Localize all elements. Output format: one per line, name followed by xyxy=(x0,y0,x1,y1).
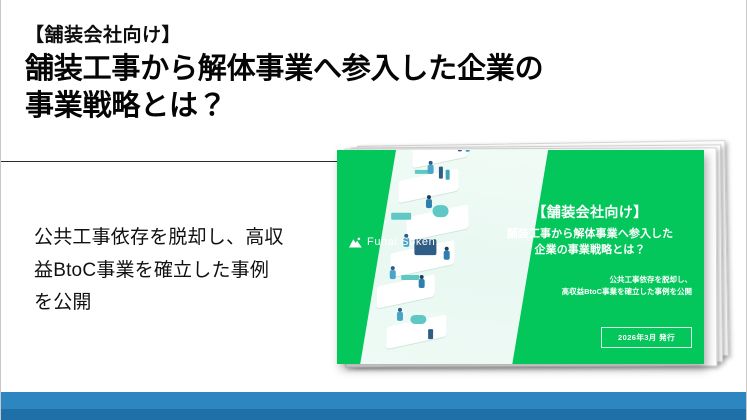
bottom-bar-upper xyxy=(1,392,747,409)
cover-sub-line-1: 公共工事依存を脱却し、 xyxy=(486,274,692,286)
headline-line-2: 事業戦略とは？ xyxy=(25,88,725,125)
document-preview[interactable]: Funai Soken 【舗装会社向け】 舗装工事から解体事業へ参入した 企業の… xyxy=(337,150,732,365)
cover-eyebrow: 【舗装会社向け】 xyxy=(486,202,694,222)
body-copy-line-2: 益BtoC事業を確立した事例 xyxy=(34,255,334,288)
slide-canvas: 【舗装会社向け】 舗装工事から解体事業へ参入した企業の 事業戦略とは？ 公共工事… xyxy=(1,0,747,392)
cover-subtitle: 公共工事依存を脱却し、 高収益BtoC事業を確立した事例を公開 xyxy=(486,274,694,297)
body-copy-line-1: 公共工事依存を脱却し、高収 xyxy=(34,222,334,255)
page-root: 【舗装会社向け】 舗装工事から解体事業へ参入した企業の 事業戦略とは？ 公共工事… xyxy=(0,0,747,420)
headline-line-1: 舗装工事から解体事業へ参入した企業の xyxy=(25,51,725,88)
headline-divider xyxy=(1,161,338,162)
body-copy: 公共工事依存を脱却し、高収 益BtoC事業を確立した事例 を公開 xyxy=(34,222,334,320)
bottom-bar-lower xyxy=(1,409,747,420)
cover-sub-line-2: 高収益BtoC事業を確立した事例を公開 xyxy=(486,286,692,298)
headline-block: 【舗装会社向け】 舗装工事から解体事業へ参入した企業の 事業戦略とは？ xyxy=(25,26,725,125)
page-title: 舗装工事から解体事業へ参入した企業の 事業戦略とは？ xyxy=(25,51,725,125)
body-copy-line-3: を公開 xyxy=(34,287,334,320)
logo-text: Funai Soken xyxy=(367,236,435,248)
bottom-bar xyxy=(1,392,747,420)
mountain-mark-icon xyxy=(349,237,362,248)
publication-date-badge: 2026年3月 発行 xyxy=(601,327,692,348)
cover-title-line-1: 舗装工事から解体事業へ参入した xyxy=(486,227,694,243)
cover-title: 舗装工事から解体事業へ参入した 企業の事業戦略とは？ xyxy=(486,227,694,258)
document-cover: Funai Soken 【舗装会社向け】 舗装工事から解体事業へ参入した 企業の… xyxy=(337,150,704,364)
funai-soken-logo: Funai Soken xyxy=(349,236,435,248)
cover-text-block: 【舗装会社向け】 舗装工事から解体事業へ参入した 企業の事業戦略とは？ 公共工事… xyxy=(486,166,694,297)
headline-eyebrow: 【舗装会社向け】 xyxy=(25,26,725,47)
cover-title-line-2: 企業の事業戦略とは？ xyxy=(486,243,694,259)
